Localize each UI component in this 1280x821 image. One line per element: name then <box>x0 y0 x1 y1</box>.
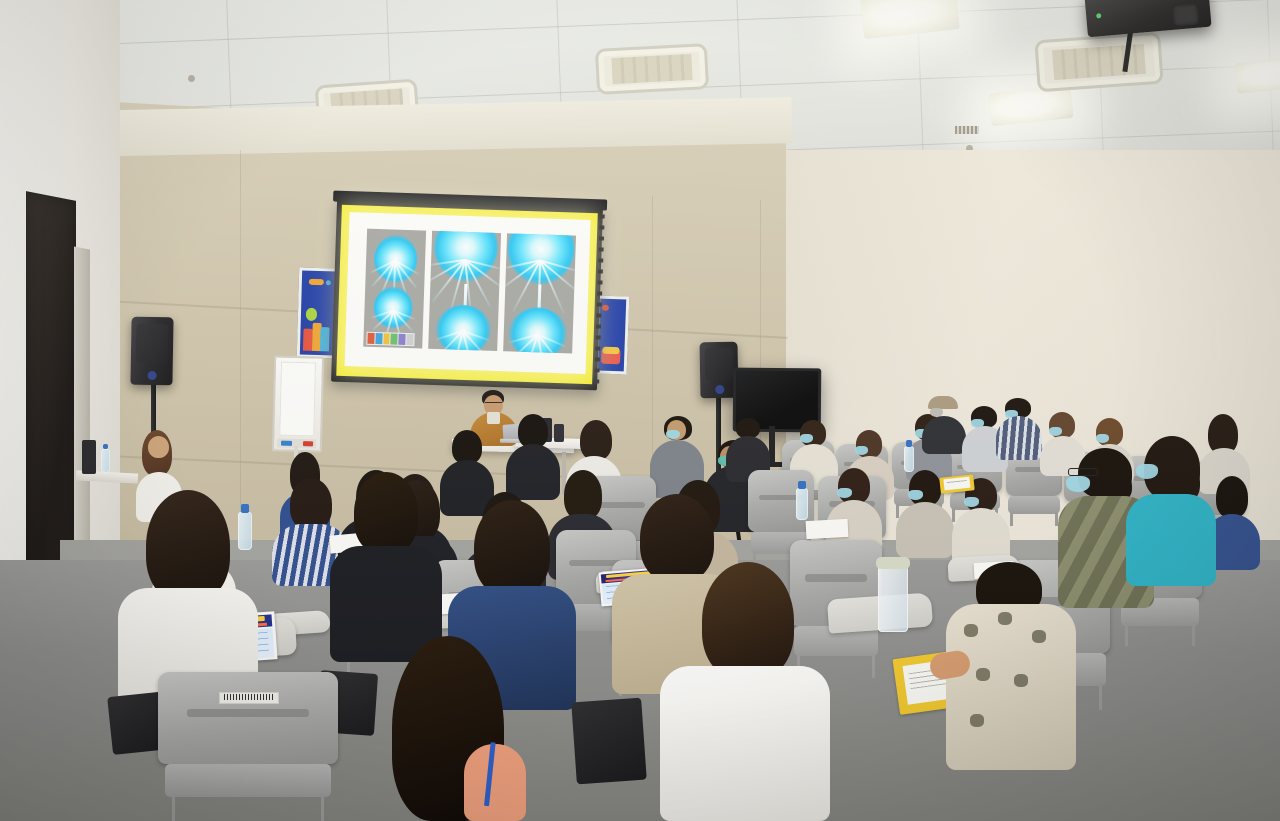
projection-screen <box>331 200 603 391</box>
seminar-room-photo <box>0 0 1280 821</box>
bag <box>571 698 647 785</box>
speaker-badge-icon <box>715 385 724 394</box>
hair <box>580 420 612 460</box>
audience-member-foreground <box>660 562 830 821</box>
ceiling-light-3 <box>1235 56 1280 93</box>
handout-sheet <box>806 519 849 539</box>
audience-member-foreground <box>360 636 540 821</box>
hair <box>354 472 418 554</box>
torso <box>660 666 830 821</box>
face-mask <box>908 490 923 500</box>
flipchart-paper <box>279 362 316 437</box>
hair <box>518 414 548 448</box>
bottle-cap-icon <box>798 481 806 489</box>
water-bottle <box>796 488 808 520</box>
hair <box>702 562 794 680</box>
glasses-icon <box>1068 468 1098 476</box>
ac-vent-right <box>1034 32 1163 93</box>
face-mask <box>1066 476 1090 492</box>
ac-vent-center <box>595 43 709 95</box>
face-mask <box>800 434 813 443</box>
hair <box>736 418 760 438</box>
shirt-pattern-cat-icon <box>970 714 984 727</box>
cap-icon <box>928 396 958 409</box>
hair <box>838 468 870 504</box>
screen-surface <box>345 212 591 374</box>
slide-content <box>363 229 576 354</box>
torso <box>996 416 1042 460</box>
speaker-cone-icon <box>136 324 169 364</box>
water-bottle <box>904 446 914 472</box>
water-tumbler <box>878 566 908 632</box>
tumbler-lid-icon <box>876 557 910 569</box>
hair <box>146 490 230 602</box>
marker-blue-icon <box>281 441 292 446</box>
folder-document <box>944 477 971 491</box>
face-mask <box>855 446 868 455</box>
shirt-pattern-cat-icon <box>998 612 1012 625</box>
shirt-pattern-cat-icon <box>964 624 978 637</box>
slide-panel-center <box>428 231 501 351</box>
shirt-pattern-cat-icon <box>976 668 990 681</box>
torso <box>464 744 526 821</box>
slide-panel-left <box>363 229 426 349</box>
chair-barcode-sticker <box>219 692 278 704</box>
audience-member <box>996 398 1042 460</box>
torso <box>896 502 954 558</box>
shirt-pattern-cat-icon <box>1032 630 1046 643</box>
slide-thumbnail-strip <box>366 332 414 347</box>
face-mask <box>1049 427 1062 436</box>
presenter-glasses-icon <box>485 402 502 406</box>
hair <box>290 478 332 530</box>
projector-power-led-icon <box>1096 13 1101 18</box>
audience-member <box>922 396 966 454</box>
audience-member-foreground <box>946 590 1076 770</box>
ceiling-grille-icon <box>955 126 979 134</box>
presenter-collar <box>487 412 500 424</box>
hair <box>1216 476 1248 518</box>
slide-panel-right <box>503 233 576 353</box>
bottle-cap-icon <box>906 440 912 446</box>
speaker-cone-icon <box>704 347 733 380</box>
chair-foreground[interactable] <box>158 672 338 821</box>
hair <box>474 500 550 596</box>
flipchart-easel <box>272 355 324 452</box>
marker-red-icon <box>303 441 313 446</box>
water-bottle <box>101 449 110 473</box>
hair <box>909 470 941 506</box>
pa-speaker-left <box>130 317 173 386</box>
head <box>148 436 169 458</box>
sprinkler-icon <box>188 75 195 82</box>
side-table-equipment <box>82 440 96 474</box>
audience-member-foreground <box>330 472 442 662</box>
torso <box>1126 494 1216 586</box>
face-mask <box>666 430 680 439</box>
shirt-pattern-cat-icon <box>1014 674 1028 687</box>
projector-lens-icon <box>1172 2 1200 26</box>
audience-member-foreground <box>1126 436 1216 586</box>
face-mask <box>964 497 979 507</box>
torso <box>922 416 966 454</box>
hair <box>452 430 482 464</box>
face-mask <box>1096 434 1109 443</box>
bottle-cap-icon <box>103 444 109 450</box>
face-mask <box>837 488 852 498</box>
face-mask <box>1136 464 1158 479</box>
speaker-badge-icon <box>147 371 156 380</box>
